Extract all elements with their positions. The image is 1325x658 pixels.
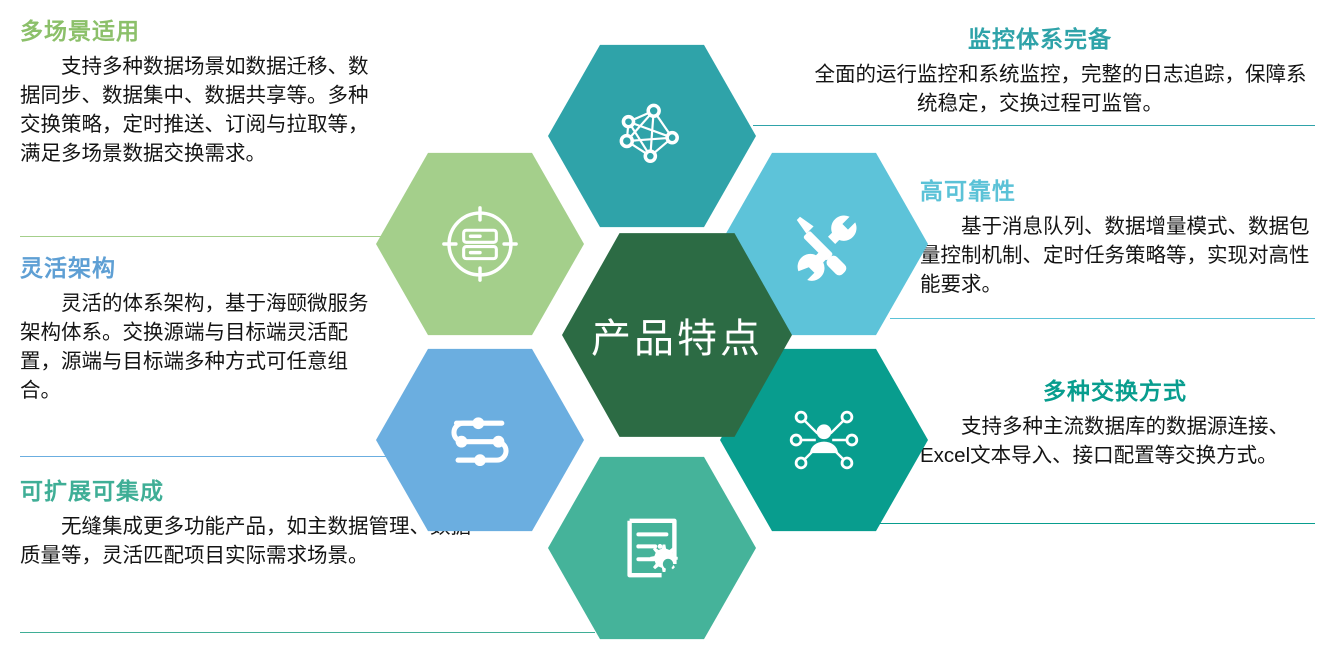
divider-reliability [890, 318, 1315, 319]
divider-flexible [20, 456, 415, 457]
feature-block-reliability: 高可靠性 基于消息队列、数据增量模式、数据包量控制机制、定时任务策略等，实现对高… [920, 178, 1310, 299]
feature-block-exchange: 多种交换方式 支持多种主流数据库的数据源连接、Excel文本导入、接口配置等交换… [920, 378, 1310, 470]
feature-body-monitoring: 全面的运行监控和系统监控，完整的日志追踪，保障系统稳定，交换过程可监管。 [770, 60, 1310, 118]
flow-route-icon [438, 398, 522, 482]
server-target-icon [437, 201, 523, 287]
feature-title-exchange: 多种交换方式 [920, 378, 1310, 406]
divider-exchange [868, 523, 1315, 524]
center-label: 产品特点 [591, 306, 763, 364]
feature-block-multiscene: 多场景适用 支持多种数据场景如数据迁移、数据同步、数据集中、数据共享等。多种交换… [20, 18, 380, 168]
feature-block-flexible: 灵活架构 灵活的体系架构，基于海颐微服务架构体系。交换源端与目标端灵活配置，源端… [20, 255, 380, 405]
feature-body-exchange: 支持多种主流数据库的数据源连接、Excel文本导入、接口配置等交换方式。 [920, 412, 1310, 470]
feature-body-extensible: 无缝集成更多功能产品，如主数据管理、数据质量等，灵活匹配项目实际需求场景。 [20, 512, 490, 570]
feature-title-multiscene: 多场景适用 [20, 18, 380, 46]
document-gear-icon [612, 508, 692, 588]
feature-body-reliability: 基于消息队列、数据增量模式、数据包量控制机制、定时任务策略等，实现对高性能要求。 [920, 212, 1310, 299]
divider-monitoring [753, 125, 1315, 126]
tools-wrench-screwdriver-icon [784, 204, 864, 284]
hexagon-monitoring[interactable] [548, 42, 756, 230]
feature-body-multiscene: 支持多种数据场景如数据迁移、数据同步、数据集中、数据共享等。多种交换策略，定时推… [20, 52, 380, 168]
person-network-icon [783, 399, 865, 481]
feature-title-flexible: 灵活架构 [20, 255, 380, 283]
hexagon-multiscene[interactable] [376, 150, 584, 338]
divider-extensible [20, 632, 595, 633]
network-graph-icon [610, 94, 694, 178]
feature-title-monitoring: 监控体系完备 [770, 26, 1310, 54]
feature-body-flexible: 灵活的体系架构，基于海颐微服务架构体系。交换源端与目标端灵活配置，源端与目标端多… [20, 289, 380, 405]
hexagon-extensible[interactable] [548, 454, 756, 642]
infographic-canvas: 多场景适用 支持多种数据场景如数据迁移、数据同步、数据集中、数据共享等。多种交换… [0, 0, 1325, 658]
feature-block-monitoring: 监控体系完备 全面的运行监控和系统监控，完整的日志追踪，保障系统稳定，交换过程可… [770, 26, 1310, 118]
divider-multiscene [20, 236, 390, 237]
feature-title-reliability: 高可靠性 [920, 178, 1310, 206]
